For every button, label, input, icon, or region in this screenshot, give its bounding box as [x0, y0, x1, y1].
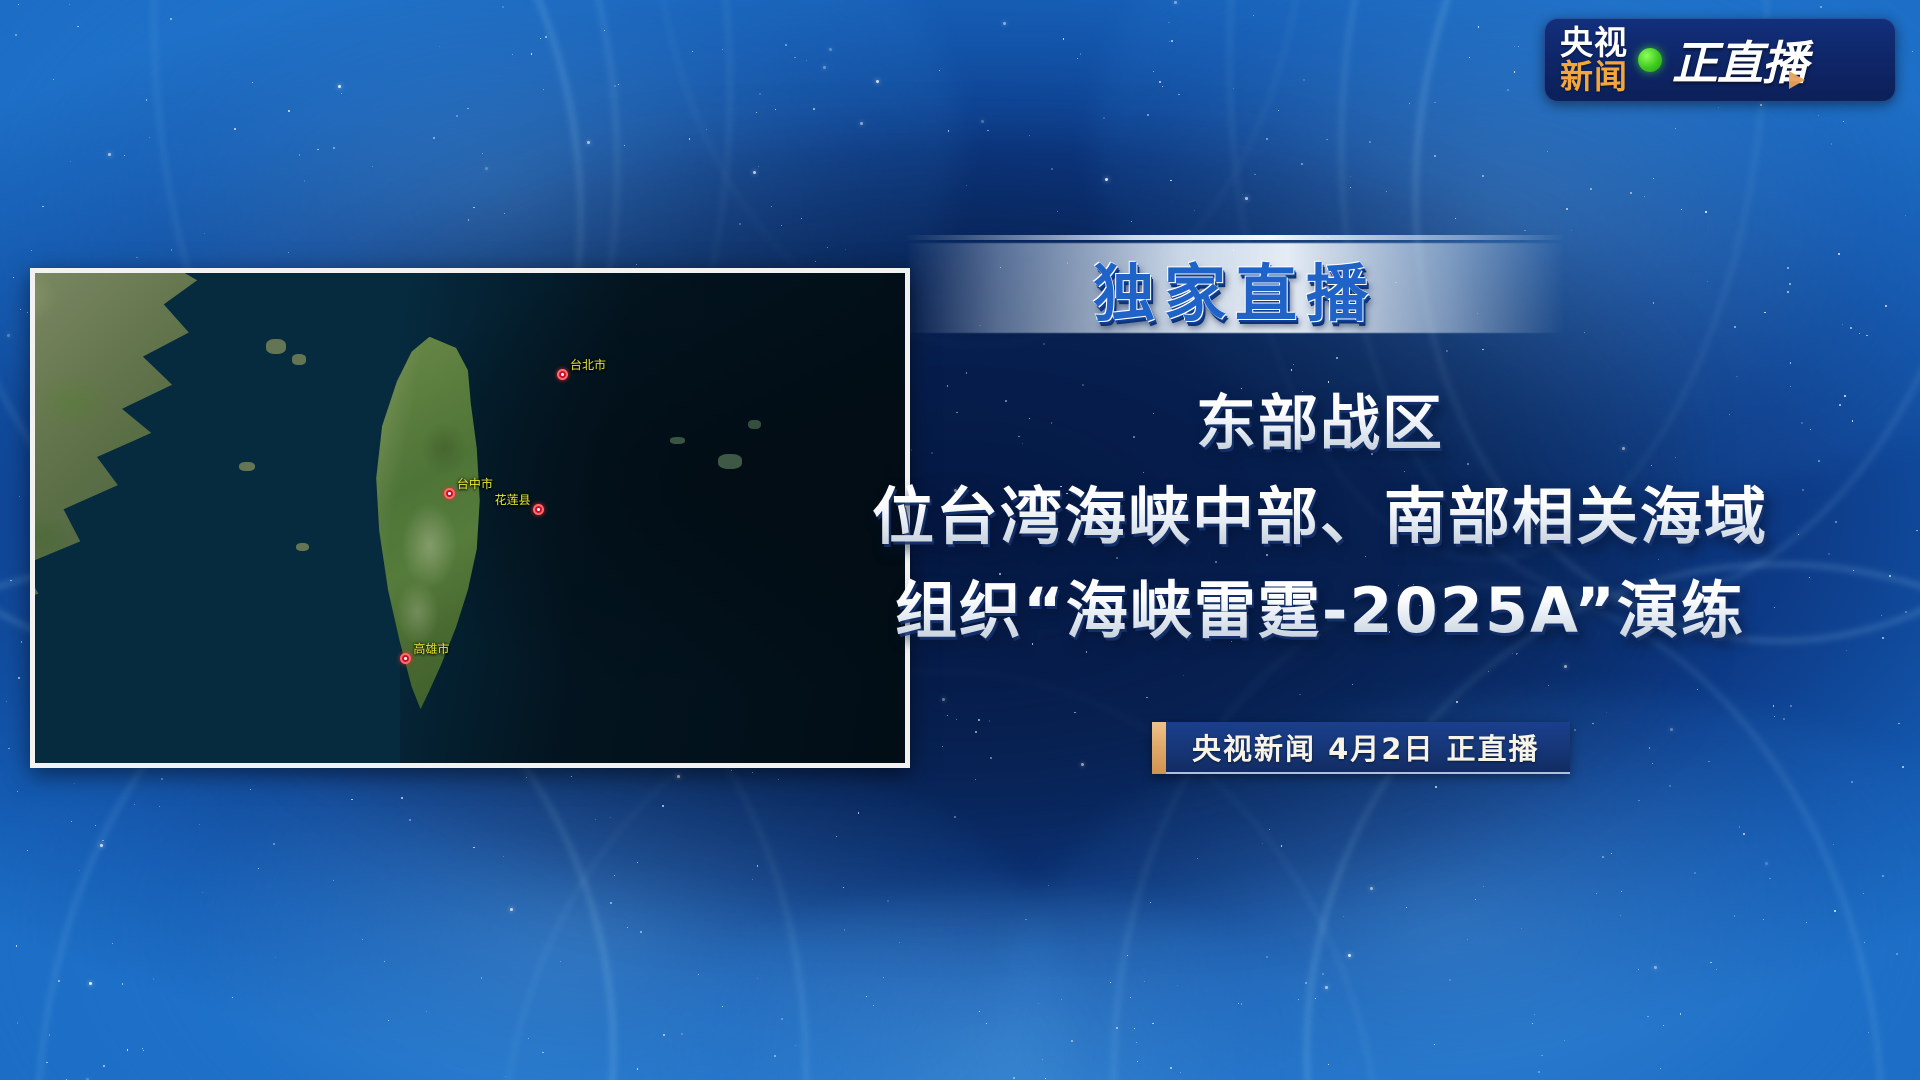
map-marker-dot-icon	[400, 653, 411, 664]
map-marker-dot-icon	[533, 504, 544, 515]
cctv-brand-line2: 新闻	[1560, 61, 1628, 93]
map-marker-label: 高雄市	[413, 640, 449, 657]
live-now-label: 正直播	[1672, 27, 1807, 93]
map-marker-dot-icon	[444, 488, 455, 499]
map-island	[670, 437, 685, 444]
source-date-banner: 央视新闻 4月2日 正直播	[1152, 722, 1570, 774]
map-island	[266, 339, 287, 354]
map-island	[292, 354, 306, 365]
map-marker: 台北市	[557, 369, 568, 380]
green-live-dot-icon	[1638, 48, 1662, 72]
map-marker-label: 台北市	[570, 356, 606, 373]
map-marker: 高雄市	[400, 653, 411, 664]
map-marker: 台中市	[444, 488, 455, 499]
map-island	[718, 454, 742, 469]
map-island	[296, 543, 309, 551]
announcement-text-block: 东部战区 位台湾海峡中部、南部相关海域 组织“海峡雷霆-2025A”演练	[740, 375, 1900, 650]
headline-container: 独家直播	[905, 243, 1565, 333]
banner-text: 央视新闻 4月2日 正直播	[1192, 726, 1540, 768]
announcement-line-2: 位台湾海峡中部、南部相关海域	[872, 466, 1768, 556]
cctv-brand-line1: 央视	[1560, 27, 1628, 59]
headline-top-rule	[905, 235, 1565, 240]
map-island	[239, 462, 255, 472]
map-marker-label: 台中市	[457, 475, 493, 492]
cctv-live-logo-badge: 央视 新闻 正直播	[1544, 18, 1896, 102]
page-title: 独家直播	[905, 243, 1565, 333]
map-marker: 花莲县	[533, 504, 544, 515]
banner-accent-bar	[1152, 722, 1166, 774]
cctv-brand-mark: 央视 新闻	[1560, 27, 1628, 94]
map-marker-dot-icon	[557, 369, 568, 380]
map-marker-label: 花莲县	[495, 491, 531, 508]
announcement-line-3: 组织“海峡雷霆-2025A”演练	[895, 560, 1745, 650]
announcement-line-1: 东部战区	[1196, 375, 1444, 462]
banner-body: 央视新闻 4月2日 正直播	[1166, 722, 1570, 774]
